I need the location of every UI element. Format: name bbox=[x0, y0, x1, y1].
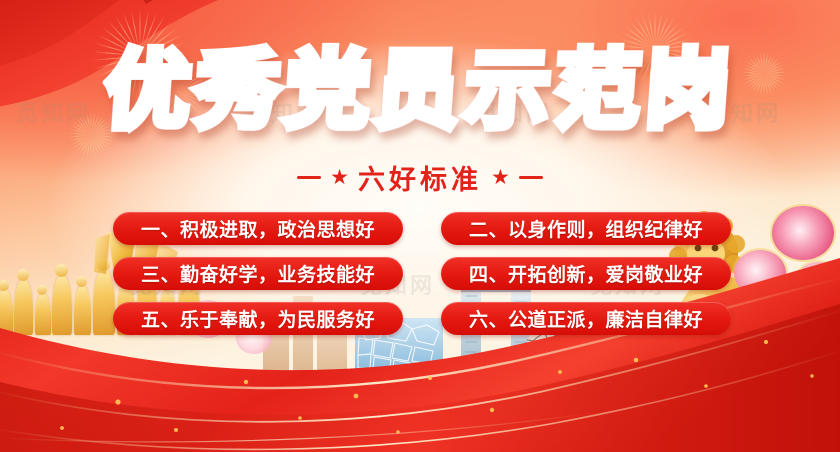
subtitle-text: 六好标准 bbox=[358, 158, 482, 197]
standard-item: 六、公道正派，廉洁自律好 bbox=[441, 302, 731, 335]
standards-list: 一、积极进取，政治思想好 二、以身作则，组织纪律好 三、勤奋好学，业务技能好 四… bbox=[113, 212, 731, 335]
standard-item: 五、乐于奉献，为民服务好 bbox=[113, 302, 403, 335]
standard-item: 四、开拓创新，爱岗敬业好 bbox=[441, 257, 731, 290]
star-icon: ★ bbox=[330, 167, 349, 188]
title-block: 优秀党员示范岗 bbox=[0, 49, 840, 135]
subtitle-block: ★ 六好标准 ★ bbox=[0, 158, 840, 197]
standard-item: 三、勤奋好学，业务技能好 bbox=[113, 257, 403, 290]
subtitle-rule-left bbox=[297, 176, 321, 179]
standard-item: 一、积极进取，政治思想好 bbox=[113, 212, 403, 245]
standard-item: 二、以身作则，组织纪律好 bbox=[441, 212, 731, 245]
page-title: 优秀党员示范岗 bbox=[102, 49, 738, 135]
star-icon: ★ bbox=[491, 167, 510, 188]
subtitle-rule-right bbox=[519, 176, 543, 179]
poster-content: 优秀党员示范岗 ★ 六好标准 ★ 一、积极进取，政治思想好 二、以身作则，组织纪… bbox=[0, 0, 840, 452]
poster-canvas: 觅知网 觅知网 觅知网 觅知网 觅知网 觅知网 觅知网 优秀党员示范岗 ★ 六好… bbox=[0, 0, 840, 452]
